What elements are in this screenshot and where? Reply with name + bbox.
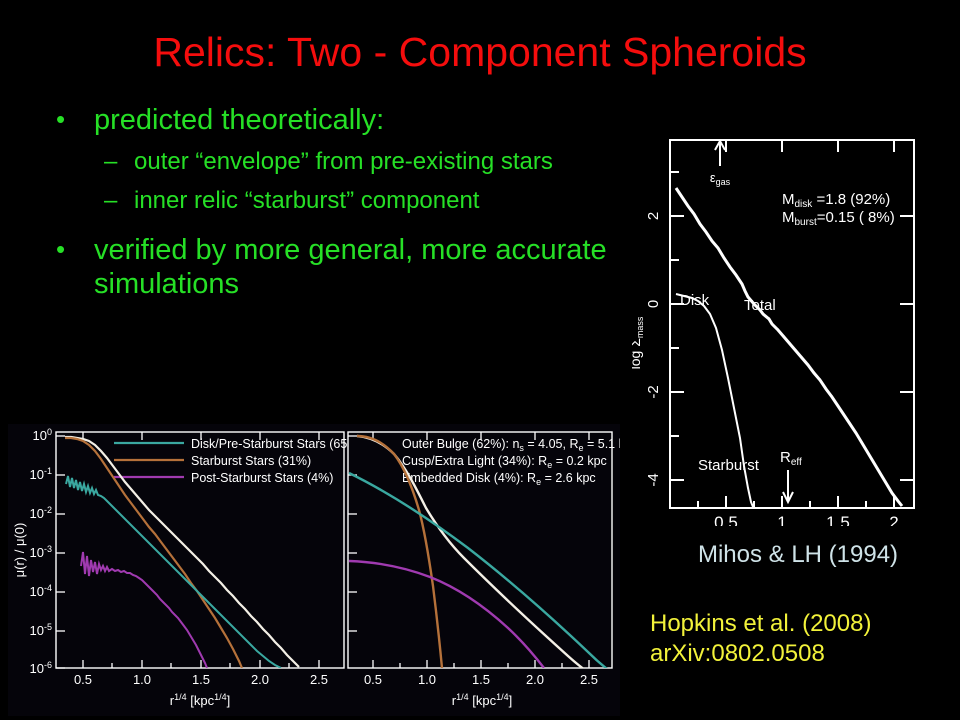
- bullet-spacer: [48, 219, 628, 233]
- y-tick-neg4: -4: [645, 473, 662, 486]
- mihos-plot-svg: 2 0 -2 -4 log Σmass 0.5 1 1.5 2 εgas Mdi…: [632, 128, 928, 526]
- y-tick-0: 0: [645, 300, 662, 308]
- bullet-text: predicted theoretically:: [94, 104, 384, 136]
- bullet-text: inner relic “starburst” component: [134, 187, 479, 214]
- hopkins-plot-svg: 100 10-1 10-2 10-3 10-4 10-5 10-6: [8, 424, 620, 716]
- x-tick-0-5: 0.5: [74, 672, 92, 687]
- starburst-curve-label: Starburst: [698, 457, 760, 474]
- x-tick-0-5: 0.5: [714, 513, 738, 526]
- bullet-marker-icon: •: [56, 232, 65, 266]
- bullet-text: verified by more general, more accurate …: [94, 234, 607, 300]
- dash-marker-icon: –: [104, 147, 117, 176]
- x-tick-2-0: 2.0: [526, 672, 544, 687]
- x-tick-1-0: 1.0: [133, 672, 151, 687]
- bullet-item-verified: • verified by more general, more accurat…: [48, 233, 628, 301]
- x-tick-1-0: 1.0: [418, 672, 436, 687]
- legend-label-disk: Disk/Pre-Starburst Stars (65%): [191, 437, 363, 451]
- hopkins-right-panel: 0.5 1.0 1.5 2.0 2.5 r1/4 [kpc1/4] Outer …: [348, 432, 620, 708]
- citation-hopkins-arxiv: arXiv:0802.0508: [650, 639, 956, 669]
- dash-marker-icon: –: [104, 186, 117, 215]
- x-tick-0-5: 0.5: [364, 672, 382, 687]
- citation-hopkins: Hopkins et al. (2008) arXiv:0802.0508: [650, 609, 956, 669]
- bullet-list: • predicted theoretically: – outer “enve…: [48, 103, 628, 307]
- citation-mihos: Mihos & LH (1994): [648, 541, 948, 569]
- y-tick-neg2: -2: [645, 385, 662, 398]
- mihos-figure: 2 0 -2 -4 log Σmass 0.5 1 1.5 2 εgas Mdi…: [632, 128, 928, 526]
- x-tick-2-5: 2.5: [310, 672, 328, 687]
- slide-root: Relics: Two - Component Spheroids • pred…: [0, 0, 960, 720]
- bullet-text: outer “envelope” from pre-existing stars: [134, 148, 553, 175]
- x-tick-1-5: 1.5: [826, 513, 850, 526]
- hopkins-figure: 100 10-1 10-2 10-3 10-4 10-5 10-6: [8, 424, 620, 716]
- citation-hopkins-reference: Hopkins et al. (2008): [650, 609, 956, 639]
- bullet-item-inner-relic: – inner relic “starburst” component: [48, 186, 628, 215]
- page-title: Relics: Two - Component Spheroids: [0, 28, 960, 76]
- bullet-marker-icon: •: [56, 102, 65, 136]
- legend-label-post: Post-Starburst Stars (4%): [191, 471, 333, 485]
- x-tick-2-5: 2.5: [580, 672, 598, 687]
- bullet-item-predicted: • predicted theoretically:: [48, 103, 628, 137]
- hopkins-left-panel: 100 10-1 10-2 10-3 10-4 10-5 10-6: [12, 427, 363, 708]
- x-tick-1-5: 1.5: [472, 672, 490, 687]
- y-tick-2: 2: [645, 212, 662, 220]
- left-y-axis-label: μ(r) / μ(0): [12, 523, 27, 578]
- x-tick-2: 2: [889, 513, 898, 526]
- x-tick-2-0: 2.0: [251, 672, 269, 687]
- x-tick-1-5: 1.5: [192, 672, 210, 687]
- annotation-cusp-extra-light: Cusp/Extra Light (34%): Re = 0.2 kpc: [402, 454, 607, 470]
- legend-label-starburst: Starburst Stars (31%): [191, 454, 311, 468]
- annotation-outer-bulge: Outer Bulge (62%): ns = 4.05, Re = 5.1 k…: [402, 437, 620, 453]
- bullet-item-outer-envelope: – outer “envelope” from pre-existing sta…: [48, 147, 628, 176]
- x-tick-1: 1: [777, 513, 786, 526]
- annotation-embedded-disk: Embedded Disk (4%): Re = 2.6 kpc: [402, 471, 596, 487]
- right-panel-annotations: Outer Bulge (62%): ns = 4.05, Re = 5.1 k…: [402, 437, 620, 487]
